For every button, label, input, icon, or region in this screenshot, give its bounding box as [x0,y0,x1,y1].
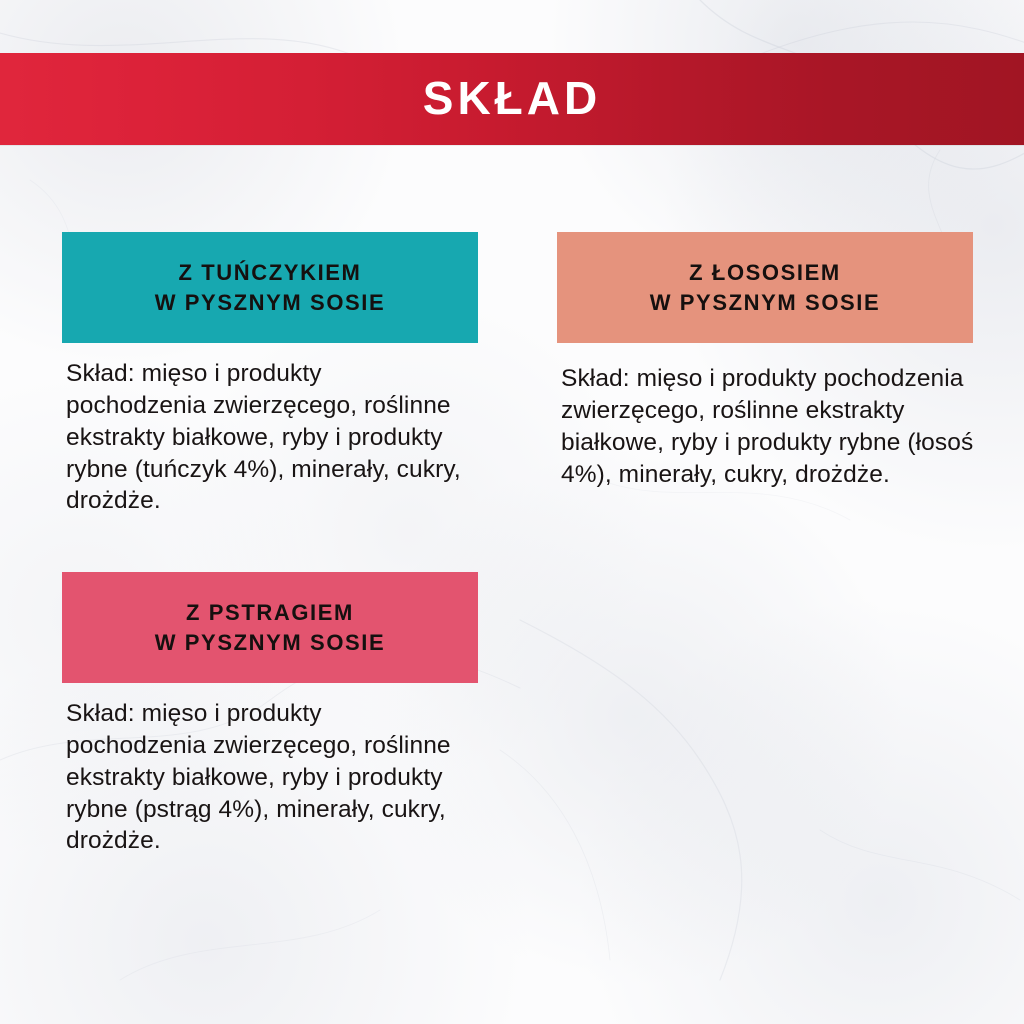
product-ingredients-salmon: Skład: mięso i produkty pochodzenia zwie… [561,363,991,490]
product-ingredients-trout: Skład: mięso i produkty pochodzenia zwie… [66,698,466,857]
page-title: SKŁAD [423,75,601,121]
product-label-line1: Z ŁOSOSIEM [689,258,841,288]
product-label-tuna: Z TUŃCZYKIEM W PYSZNYM SOSIE [62,232,478,343]
product-label-line2: W PYSZNYM SOSIE [155,628,386,658]
product-card-trout: Z PSTRAGIEM W PYSZNYM SOSIE Skład: mięso… [62,572,478,857]
product-label-line1: Z PSTRAGIEM [186,598,354,628]
product-card-tuna: Z TUŃCZYKIEM W PYSZNYM SOSIE Skład: mięs… [62,232,478,517]
product-ingredients-page: SKŁAD Z TUŃCZYKIEM W PYSZNYM SOSIE Skład… [0,0,1024,1024]
product-card-salmon: Z ŁOSOSIEM W PYSZNYM SOSIE Skład: mięso … [557,232,973,490]
product-label-line1: Z TUŃCZYKIEM [179,258,362,288]
product-label-trout: Z PSTRAGIEM W PYSZNYM SOSIE [62,572,478,683]
product-label-line2: W PYSZNYM SOSIE [650,288,881,318]
product-ingredients-tuna: Skład: mięso i produkty pochodzenia zwie… [66,358,466,517]
page-header-banner: SKŁAD [0,53,1024,145]
product-label-line2: W PYSZNYM SOSIE [155,288,386,318]
product-label-salmon: Z ŁOSOSIEM W PYSZNYM SOSIE [557,232,973,343]
